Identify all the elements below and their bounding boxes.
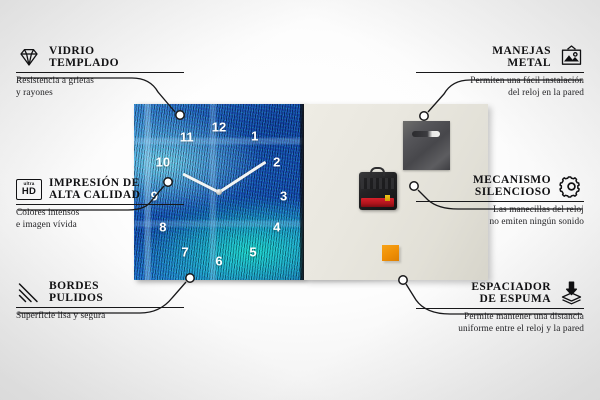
callout-description: Las manecillas del reloj no emiten ningú… <box>416 202 584 227</box>
callout-description: Permiten una fácil instalación del reloj… <box>416 73 584 98</box>
hanger-slot <box>412 131 440 137</box>
callout-header: ESPACIADOR DE ESPUMA <box>416 280 584 308</box>
clock-numeral-5: 5 <box>249 245 256 258</box>
callout-manejas-metal: MANEJAS METAL Permiten una fácil instala… <box>416 44 584 99</box>
infographic-canvas: 12 1 2 3 4 5 6 7 8 9 10 11 <box>0 0 600 400</box>
callout-title: MECANISMO SILENCIOSO <box>473 174 551 199</box>
callout-title: BORDES PULIDOS <box>49 280 103 305</box>
callout-description: Resistencia a grietas y rayones <box>16 73 184 98</box>
callout-header: VIDRIO TEMPLADO <box>16 44 184 72</box>
gear-icon <box>558 173 584 199</box>
clock-numeral-7: 7 <box>181 245 188 258</box>
callout-title: VIDRIO TEMPLADO <box>49 45 119 70</box>
callout-title: MANEJAS METAL <box>492 45 551 70</box>
callout-description: Permite mantener una distancia uniforme … <box>416 309 584 334</box>
callout-mecanismo-silencioso: MECANISMO SILENCIOSO Las manecillas del … <box>416 173 584 228</box>
callout-header: BORDES PULIDOS <box>16 279 184 307</box>
diamond-icon <box>16 44 42 70</box>
callout-impresion-alta-calidad: ultra HD IMPRESIÓN DE ALTA CALIDAD Color… <box>16 176 184 231</box>
metal-hanger-plate <box>403 121 450 170</box>
quartz-mechanism <box>359 172 397 210</box>
diagonal-lines-icon <box>16 279 42 305</box>
callout-title: ESPACIADOR DE ESPUMA <box>471 281 551 306</box>
clock-numeral-6: 6 <box>215 254 222 267</box>
callout-header: MANEJAS METAL <box>416 44 584 72</box>
mechanism-hook <box>370 167 385 176</box>
callout-header: ultra HD IMPRESIÓN DE ALTA CALIDAD <box>16 176 184 204</box>
clock-numeral-12: 12 <box>212 120 226 133</box>
mechanism-label <box>361 178 395 189</box>
clock-center-cap <box>216 189 222 195</box>
callout-description: Superficie lisa y segura <box>16 308 184 322</box>
callout-espaciador-espuma: ESPACIADOR DE ESPUMA Permite mantener un… <box>416 280 584 335</box>
clock-numeral-10: 10 <box>156 156 170 169</box>
hanging-picture-icon <box>558 44 584 70</box>
callout-description: Colores intensos e imagen vívida <box>16 205 184 230</box>
callout-vidrio-templado: VIDRIO TEMPLADO Resistencia a grietas y … <box>16 44 184 99</box>
callout-title: IMPRESIÓN DE ALTA CALIDAD <box>49 177 140 202</box>
clock-numeral-2: 2 <box>273 156 280 169</box>
callout-bordes-pulidos: BORDES PULIDOS Superficie lisa y segura <box>16 279 184 323</box>
battery <box>361 198 394 207</box>
ultra-hd-icon: ultra HD <box>16 176 42 202</box>
clock-numeral-11: 11 <box>180 131 194 144</box>
clock-numeral-4: 4 <box>273 221 280 234</box>
clock-numeral-1: 1 <box>251 129 258 142</box>
callout-header: MECANISMO SILENCIOSO <box>416 173 584 201</box>
foam-spacer <box>382 245 399 261</box>
arrow-onto-stack-icon <box>558 280 584 306</box>
clock-numeral-3: 3 <box>280 189 287 202</box>
